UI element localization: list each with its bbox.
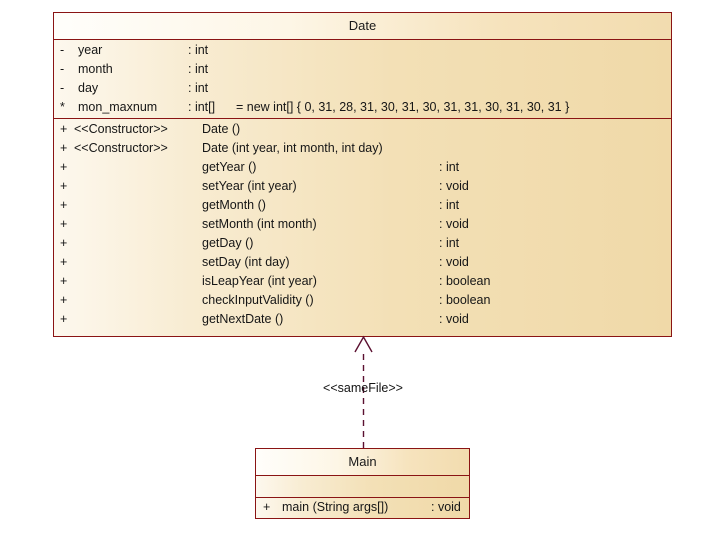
visibility-marker: +	[60, 291, 72, 310]
visibility-marker: +	[60, 234, 72, 253]
member-name: main (String args[])	[282, 498, 388, 517]
member-type: : boolean	[439, 291, 490, 310]
member-name: day	[78, 79, 98, 98]
stereotype-label: <<Constructor>>	[74, 120, 168, 139]
connector-label-samefile: <<sameFile>>	[263, 381, 463, 395]
member-row: *mon_maxnum: int[]= new int[] { 0, 31, 2…	[54, 98, 671, 117]
member-name: getYear ()	[202, 158, 256, 177]
member-row: +setDay (int day): void	[54, 253, 671, 272]
visibility-marker: *	[60, 98, 72, 117]
member-type: : void	[439, 177, 469, 196]
member-name: checkInputValidity ()	[202, 291, 314, 310]
member-type: : void	[431, 498, 461, 517]
member-type: : boolean	[439, 272, 490, 291]
member-name: isLeapYear (int year)	[202, 272, 317, 291]
member-row: +getMonth (): int	[54, 196, 671, 215]
visibility-marker: -	[60, 79, 72, 98]
connector-open-arrowhead	[355, 337, 372, 352]
visibility-marker: +	[60, 177, 72, 196]
member-type: : int	[188, 60, 208, 79]
member-row: -month: int	[54, 60, 671, 79]
member-name: getMonth ()	[202, 196, 266, 215]
member-type: : int	[188, 41, 208, 60]
member-type: : int	[439, 158, 459, 177]
class-name-main: Main	[256, 449, 469, 476]
member-type: : void	[439, 215, 469, 234]
member-initializer: = new int[] { 0, 31, 28, 31, 30, 31, 30,…	[236, 98, 569, 117]
stereotype-label: <<Constructor>>	[74, 139, 168, 158]
member-row: +<<Constructor>>Date ()	[54, 120, 671, 139]
visibility-marker: +	[60, 310, 72, 329]
uml-class-date[interactable]: Date -year: int-month: int-day: int*mon_…	[53, 12, 672, 337]
visibility-marker: +	[60, 196, 72, 215]
attributes-compartment-date: -year: int-month: int-day: int*mon_maxnu…	[54, 40, 671, 118]
visibility-marker: -	[60, 60, 72, 79]
attributes-compartment-main	[256, 476, 469, 497]
member-name: setDay (int day)	[202, 253, 290, 272]
member-row: +getNextDate (): void	[54, 310, 671, 329]
visibility-marker: +	[60, 139, 72, 158]
member-name: Date ()	[202, 120, 240, 139]
visibility-marker: +	[60, 158, 72, 177]
member-row: -year: int	[54, 41, 671, 60]
member-type: : void	[439, 253, 469, 272]
visibility-marker: +	[60, 215, 72, 234]
member-row: +main (String args[]): void	[256, 498, 469, 517]
visibility-marker: +	[60, 272, 72, 291]
member-name: Date (int year, int month, int day)	[202, 139, 383, 158]
member-row: -day: int	[54, 79, 671, 98]
member-row: +getDay (): int	[54, 234, 671, 253]
member-row: +<<Constructor>>Date (int year, int mont…	[54, 139, 671, 158]
operations-compartment-main: +main (String args[]): void	[256, 497, 469, 518]
class-name-date: Date	[54, 13, 671, 40]
operations-compartment-date: +<<Constructor>>Date ()+<<Constructor>>D…	[54, 118, 671, 336]
member-type: : int[]	[188, 98, 215, 117]
member-type: : int	[439, 234, 459, 253]
member-name: mon_maxnum	[78, 98, 157, 117]
member-type: : int	[439, 196, 459, 215]
member-row: +setMonth (int month): void	[54, 215, 671, 234]
member-name: getDay ()	[202, 234, 253, 253]
visibility-marker: +	[60, 253, 72, 272]
member-name: getNextDate ()	[202, 310, 283, 329]
member-name: year	[78, 41, 102, 60]
visibility-marker: -	[60, 41, 72, 60]
member-name: setYear (int year)	[202, 177, 297, 196]
member-type: : void	[439, 310, 469, 329]
member-row: +checkInputValidity (): boolean	[54, 291, 671, 310]
visibility-marker: +	[60, 120, 72, 139]
member-type: : int	[188, 79, 208, 98]
member-row: +isLeapYear (int year): boolean	[54, 272, 671, 291]
uml-class-main[interactable]: Main +main (String args[]): void	[255, 448, 470, 519]
visibility-marker: +	[263, 498, 275, 517]
member-name: setMonth (int month)	[202, 215, 317, 234]
member-row: +setYear (int year): void	[54, 177, 671, 196]
member-name: month	[78, 60, 113, 79]
member-row: +getYear (): int	[54, 158, 671, 177]
